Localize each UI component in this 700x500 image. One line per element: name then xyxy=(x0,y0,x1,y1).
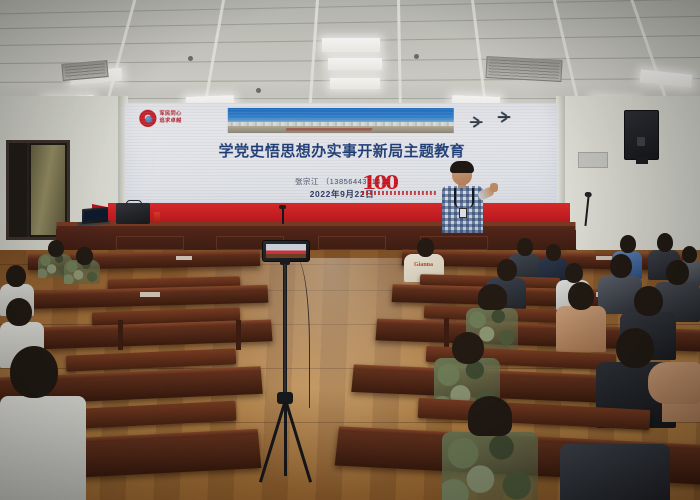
ceiling-sprinkler xyxy=(256,88,261,93)
red-cup xyxy=(154,212,160,223)
paper-sheet xyxy=(176,256,192,260)
smartphone-on-tripod xyxy=(246,240,326,480)
bench-leg xyxy=(236,320,241,350)
list-item xyxy=(560,418,670,500)
loudspeaker-bracket xyxy=(636,157,648,164)
tripod-leg xyxy=(284,400,287,476)
ceiling-light-panel xyxy=(322,38,380,52)
ceiling-sprinkler xyxy=(188,56,193,61)
ceiling-light-panel xyxy=(639,69,692,87)
list-item xyxy=(442,400,538,500)
desk-microphone xyxy=(282,208,284,224)
tripod-column xyxy=(283,264,287,396)
ceiling-rail xyxy=(307,0,319,112)
ceiling-rail xyxy=(397,0,402,112)
raised-hand xyxy=(648,362,700,404)
list-item xyxy=(0,352,86,500)
charging-cable xyxy=(287,258,310,408)
id-badge xyxy=(459,208,467,218)
lanyard xyxy=(454,188,474,208)
ceiling-air-vent xyxy=(485,56,562,82)
ceiling-light-panel xyxy=(330,78,380,89)
wall-loudspeaker xyxy=(624,110,659,160)
paper-sheet xyxy=(140,292,160,297)
standing-speaker xyxy=(434,163,496,233)
ceiling-light-panel xyxy=(328,58,382,70)
wall-plaque xyxy=(578,152,608,168)
black-bag xyxy=(116,203,150,224)
tripod-leg xyxy=(259,400,287,483)
ceiling-sprinkler xyxy=(414,54,419,59)
laptop xyxy=(82,207,108,224)
list-item xyxy=(64,250,100,282)
tripod-leg xyxy=(284,400,312,483)
lecture-hall-photo: 军民同心 追求卓越 学党史悟思想办实事开新局主题教育 张宗江 （13856443… xyxy=(0,0,700,500)
bench-leg xyxy=(118,320,123,350)
